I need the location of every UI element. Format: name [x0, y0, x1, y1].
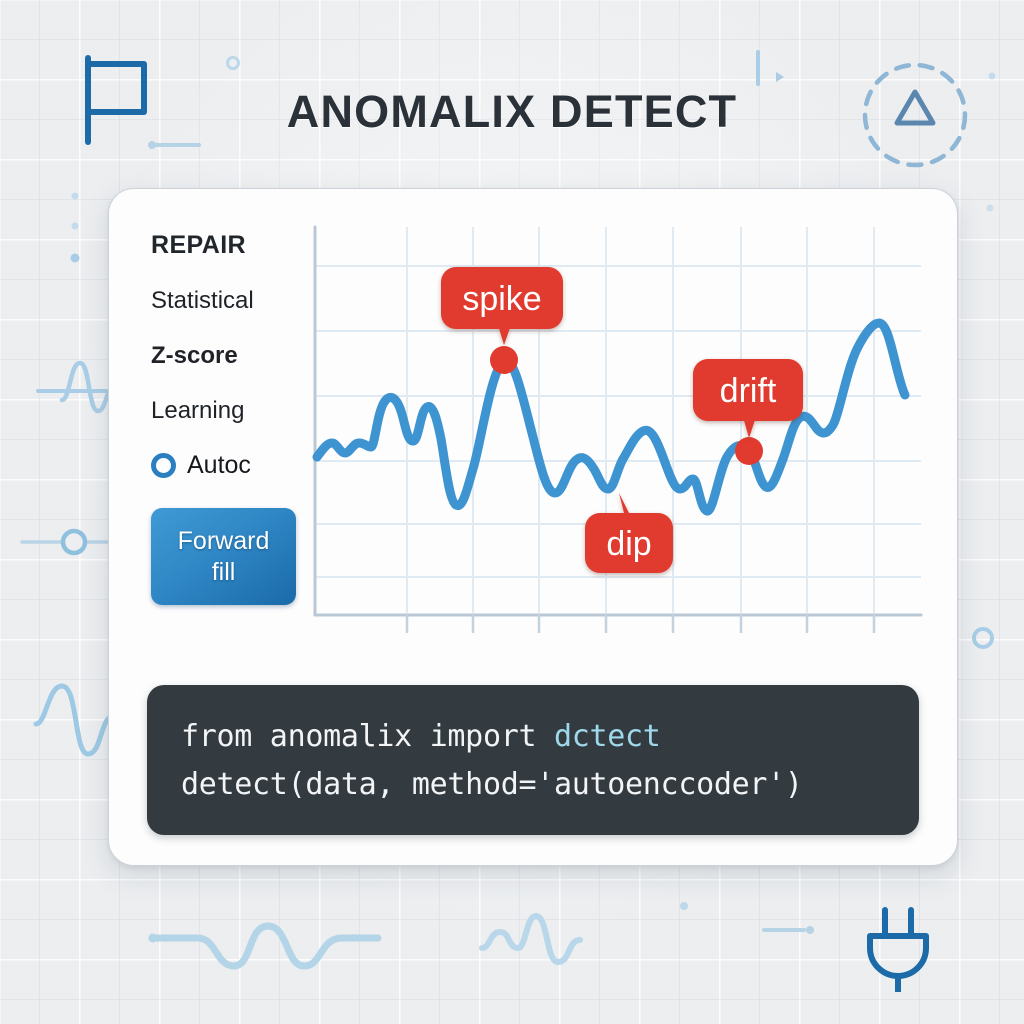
rule-tick-icon	[760, 916, 818, 944]
annotation-dip-label: dip	[606, 525, 651, 563]
forward-fill-label-line2: fill	[212, 557, 236, 588]
anomaly-marker-drift[interactable]	[735, 437, 763, 465]
chart-svg: spike drift dip	[301, 221, 927, 651]
power-plug-icon	[852, 898, 944, 992]
dot-icon	[672, 894, 696, 918]
main-card: REPAIR Statistical Z-score Learning Auto…	[108, 188, 958, 866]
dot-icon	[978, 196, 1002, 220]
autoc-radio-label: Autoc	[187, 451, 251, 480]
waveform-icon	[476, 908, 596, 978]
sidebar-item-zscore[interactable]: Z-score	[151, 342, 303, 370]
forward-fill-label-line1: Forward	[178, 526, 270, 557]
radio-button-icon[interactable]	[151, 453, 176, 478]
annotation-drift-label: drift	[720, 372, 777, 410]
anomaly-chart[interactable]: spike drift dip	[301, 221, 927, 651]
ring-icon	[965, 620, 1001, 656]
chart-axis-ticks	[407, 615, 874, 633]
anomaly-marker-spike[interactable]	[490, 346, 518, 374]
chart-line-signal	[317, 323, 905, 511]
rule-tick-icon	[147, 136, 207, 154]
ring-icon	[218, 48, 248, 78]
autoc-radio-option[interactable]: Autoc	[151, 451, 303, 480]
page-title: ANOMALIX DETECT	[0, 86, 1024, 138]
code-block[interactable]: from anomalix import dctect detect(data,…	[147, 685, 919, 835]
forward-fill-button[interactable]: Forward fill	[151, 508, 296, 605]
sidebar-item-statistical[interactable]: Statistical	[151, 287, 303, 315]
code-line-1-plain: from anomalix import	[181, 719, 554, 754]
code-line-1-identifier: dctect	[554, 719, 661, 754]
sidebar-item-learning[interactable]: Learning	[151, 397, 303, 425]
waveform-icon	[146, 896, 486, 986]
sidebar: REPAIR Statistical Z-score Learning Auto…	[151, 231, 303, 605]
code-line-2: detect(data, method='autoenccoder')	[181, 767, 885, 802]
sidebar-heading: REPAIR	[151, 231, 303, 260]
annotation-spike-label: spike	[462, 280, 541, 318]
code-line-1: from anomalix import dctect	[181, 719, 885, 754]
dot-column-icon	[62, 186, 88, 276]
